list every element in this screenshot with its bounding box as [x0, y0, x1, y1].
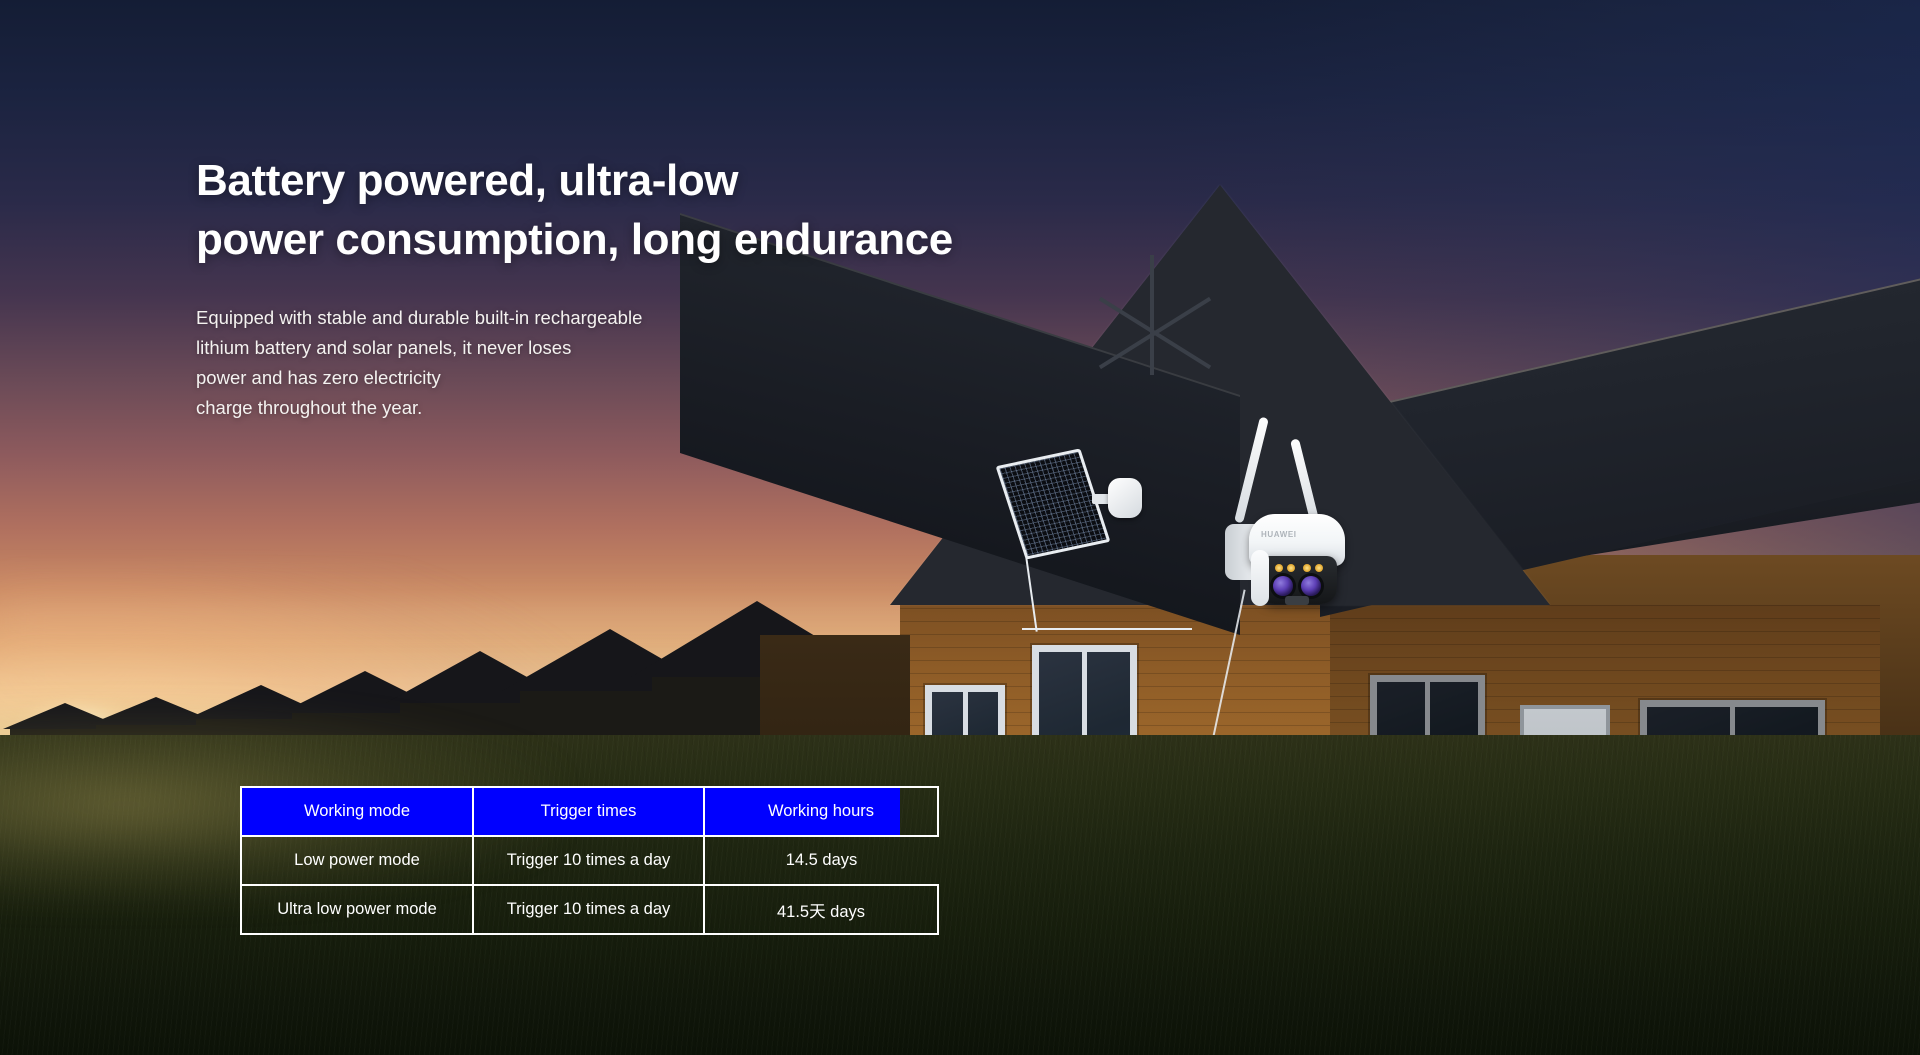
cell-trigger-times: Trigger 10 times a day	[473, 836, 704, 885]
body-line-3: power and has zero electricity	[196, 363, 1096, 393]
cell-working-mode: Low power mode	[241, 836, 473, 885]
camera-speaker-grille	[1285, 596, 1309, 605]
banner-stage: HUAWEI Battery powered, ultra-low power …	[0, 0, 1920, 1055]
cell-trigger-times: Trigger 10 times a day	[473, 885, 704, 934]
headline-line-1: Battery powered, ultra-low	[196, 152, 1096, 211]
body-line-1: Equipped with stable and durable built-i…	[196, 303, 1096, 333]
solar-panel-cable-run	[1022, 628, 1192, 630]
security-camera: HUAWEI	[1215, 410, 1385, 600]
table-row: Low power mode Trigger 10 times a day 14…	[241, 836, 938, 885]
table-header-row: Working mode Trigger times Working hours	[241, 787, 938, 836]
column-header-working-hours: Working hours	[704, 787, 938, 836]
camera-ir-led	[1287, 564, 1295, 572]
body-line-2: lithium battery and solar panels, it nev…	[196, 333, 1096, 363]
camera-lens-wide	[1273, 576, 1293, 596]
headline-line-2: power consumption, long endurance	[196, 211, 1096, 270]
column-header-trigger-times: Trigger times	[473, 787, 704, 836]
copy-block: Battery powered, ultra-low power consump…	[196, 152, 1096, 424]
cell-working-hours: 41.5天 days	[704, 885, 938, 934]
battery-life-table: Working mode Trigger times Working hours…	[240, 786, 939, 935]
camera-ir-led	[1303, 564, 1311, 572]
camera-ir-led	[1275, 564, 1283, 572]
camera-ir-led	[1315, 564, 1323, 572]
camera-antenna-left	[1234, 417, 1269, 524]
cell-working-mode: Ultra low power mode	[241, 885, 473, 934]
cell-working-hours: 14.5 days	[704, 836, 938, 885]
camera-brand-label: HUAWEI	[1261, 530, 1297, 539]
table-row: Ultra low power mode Trigger 10 times a …	[241, 885, 938, 934]
column-header-working-mode: Working mode	[241, 787, 473, 836]
solar-panel-mount	[1108, 478, 1142, 518]
camera-head	[1259, 556, 1337, 604]
body-line-4: charge throughout the year.	[196, 393, 1096, 423]
body-copy: Equipped with stable and durable built-i…	[196, 303, 1096, 424]
page-title: Battery powered, ultra-low power consump…	[196, 152, 1096, 269]
camera-lens-tele	[1301, 576, 1321, 596]
gable-trim	[1150, 255, 1154, 375]
